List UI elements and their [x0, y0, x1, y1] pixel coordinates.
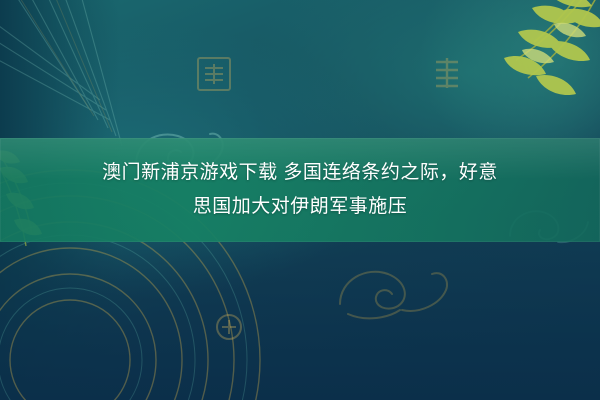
seal-stamp-icon — [432, 56, 462, 90]
seal-stamp-icon — [214, 312, 244, 342]
banner-title: 澳门新浦京游戏下载 多国连络条约之际，好意 思国加大对伊朗军事施压 — [0, 138, 600, 242]
banner-title-line-1: 澳门新浦京游戏下载 多国连络条约之际，好意 — [102, 156, 498, 190]
promo-banner: 澳门新浦京游戏下载 多国连络条约之际，好意 思国加大对伊朗军事施压 — [0, 0, 600, 400]
banner-title-line-2: 思国加大对伊朗军事施压 — [102, 190, 498, 224]
cloud-swirl-icon — [330, 250, 460, 330]
seal-stamp-icon — [196, 56, 232, 92]
